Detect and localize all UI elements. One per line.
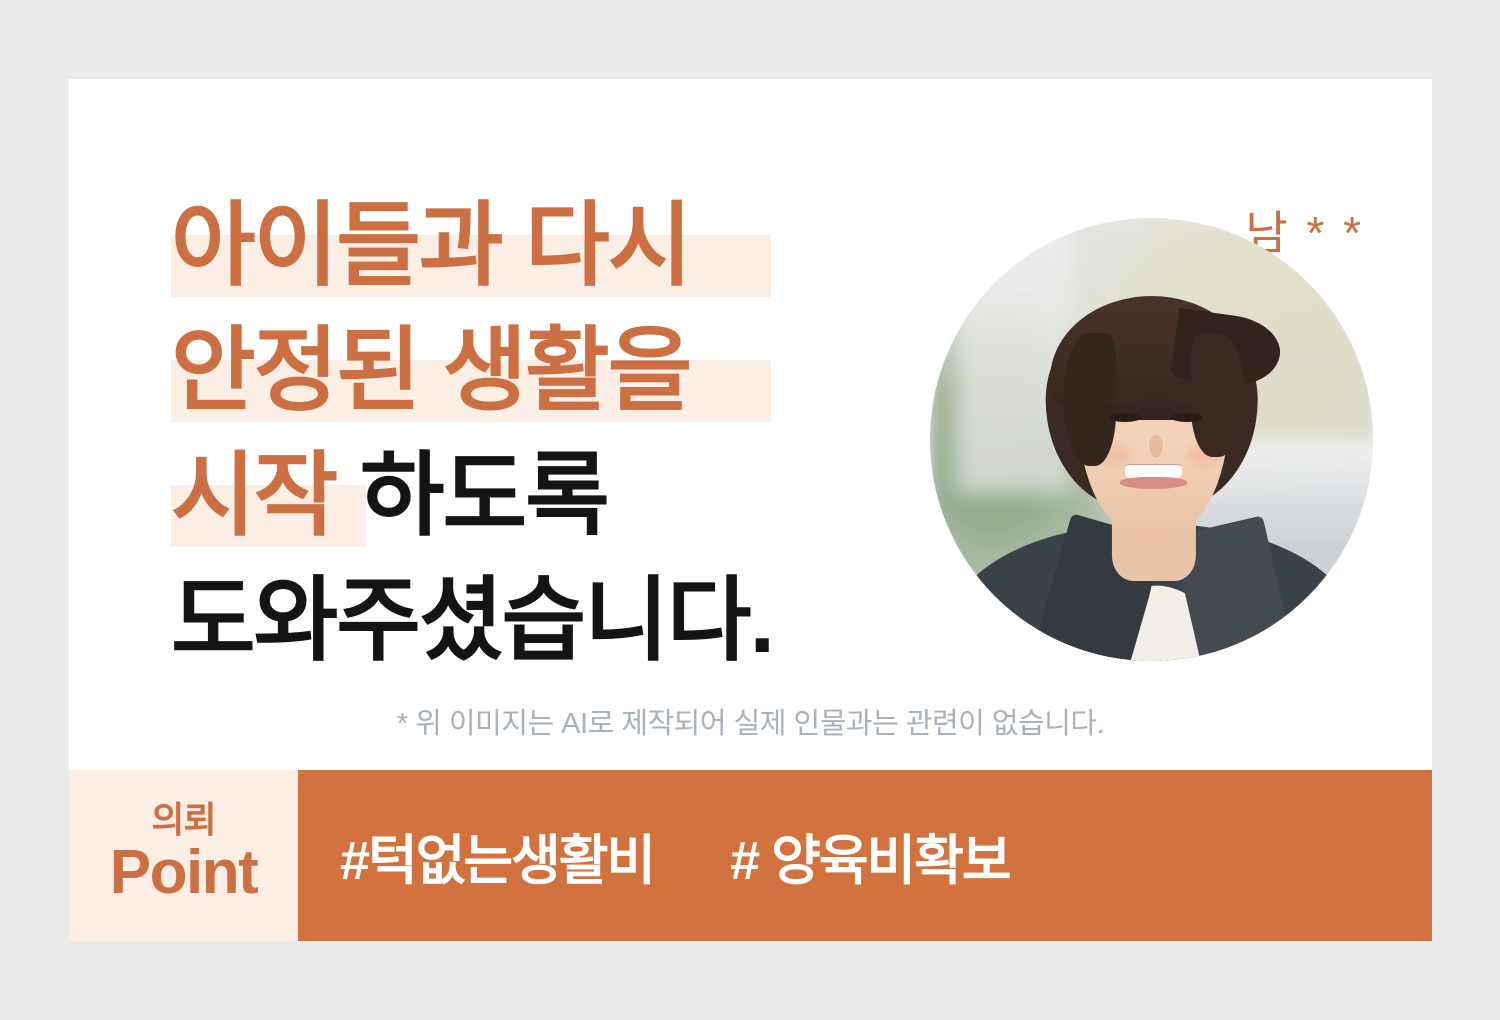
- client-portrait-avatar: [930, 218, 1373, 661]
- hashtag-1: #턱없는생활비: [340, 816, 654, 895]
- headline-line-1-orange: 아이들과 다시: [171, 195, 690, 297]
- headline-line-3-orange: 시작: [171, 445, 336, 547]
- point-label-big: Point: [110, 842, 257, 904]
- headline-line-2: 안정된 생활을: [171, 309, 931, 434]
- portrait-lower-lip: [1120, 477, 1186, 489]
- headline-line-4: 도와주셨습니다.: [171, 559, 931, 684]
- point-label-block: 의뢰 Point: [69, 770, 298, 941]
- headline-line-2-orange: 안정된 생활을: [171, 320, 690, 422]
- headline-line-1: 아이들과 다시: [171, 184, 931, 309]
- ai-image-disclaimer: * 위 이미지는 AI로 제작되어 실제 인물과는 관련이 없습니다.: [69, 700, 1432, 742]
- promo-card: 아이들과 다시 안정된 생활을 시작 하도록 도와주셨습니다. 남 * *: [69, 79, 1432, 941]
- portrait-nose: [1149, 435, 1162, 457]
- point-bar: 의뢰 Point #턱없는생활비 # 양육비확보: [69, 770, 1432, 941]
- headline-line-4-black: 도와주셨습니다.: [171, 570, 773, 672]
- portrait-hair-side-right: [1191, 333, 1244, 457]
- headline-line-3: 시작 하도록: [171, 434, 931, 559]
- hashtag-2: # 양육비확보: [730, 816, 1009, 895]
- point-label-small: 의뢰: [151, 802, 215, 838]
- headline-line-3-black: 하도록: [336, 445, 607, 547]
- hashtag-block: #턱없는생활비 # 양육비확보: [298, 770, 1432, 941]
- headline-block: 아이들과 다시 안정된 생활을 시작 하도록 도와주셨습니다.: [171, 184, 931, 684]
